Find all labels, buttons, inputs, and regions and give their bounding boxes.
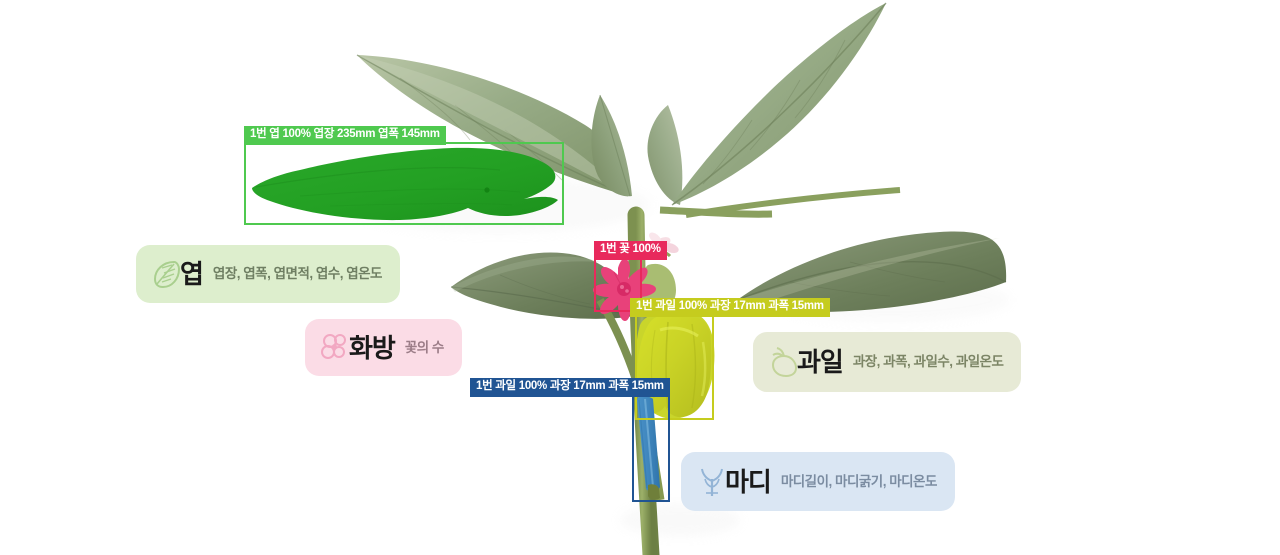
bbox-node-1[interactable] xyxy=(632,395,670,502)
legend-title-leaf: 엽 xyxy=(180,261,203,287)
flower-icon xyxy=(319,331,353,365)
legend-title-fruit: 과일 xyxy=(797,349,843,375)
legend-subtitle-leaf: 엽장, 엽폭, 엽면적, 엽수, 엽온도 xyxy=(213,267,382,281)
leaf-icon xyxy=(150,257,184,291)
legend-card-node[interactable]: 마디 마디길이, 마디굵기, 마디온도 xyxy=(681,452,955,511)
node-icon xyxy=(695,465,729,499)
detection-label-fruit-1[interactable]: 1번 과일 100% 과장 17mm 과폭 15mm xyxy=(630,298,830,317)
legend-card-fruit[interactable]: 과일 과장, 과폭, 과일수, 과일온도 xyxy=(753,332,1021,392)
legend-subtitle-node: 마디길이, 마디굵기, 마디온도 xyxy=(781,475,937,489)
detection-label-node-1[interactable]: 1번 과일 100% 과장 17mm 과폭 15mm xyxy=(470,378,670,397)
detection-label-leaf-1[interactable]: 1번 엽 100% 엽장 235mm 엽폭 145mm xyxy=(244,126,446,145)
legend-title-node: 마디 xyxy=(725,469,771,495)
legend-card-flower[interactable]: 화방 꽃의 수 xyxy=(305,319,462,376)
legend-subtitle-flower: 꽃의 수 xyxy=(405,341,444,355)
legend-subtitle-fruit: 과장, 과폭, 과일수, 과일온도 xyxy=(853,355,1004,369)
legend-title-flower: 화방 xyxy=(349,335,395,361)
legend-card-leaf[interactable]: 엽 엽장, 엽폭, 엽면적, 엽수, 엽온도 xyxy=(136,245,400,303)
detection-label-flower-1[interactable]: 1번 꽃 100% xyxy=(594,241,667,260)
bbox-leaf-1[interactable] xyxy=(244,142,564,225)
fruit-icon xyxy=(767,345,801,379)
segmentation-canvas: 1번 엽 100% 엽장 235mm 엽폭 145mm 1번 꽃 100% 1번… xyxy=(0,0,1280,555)
